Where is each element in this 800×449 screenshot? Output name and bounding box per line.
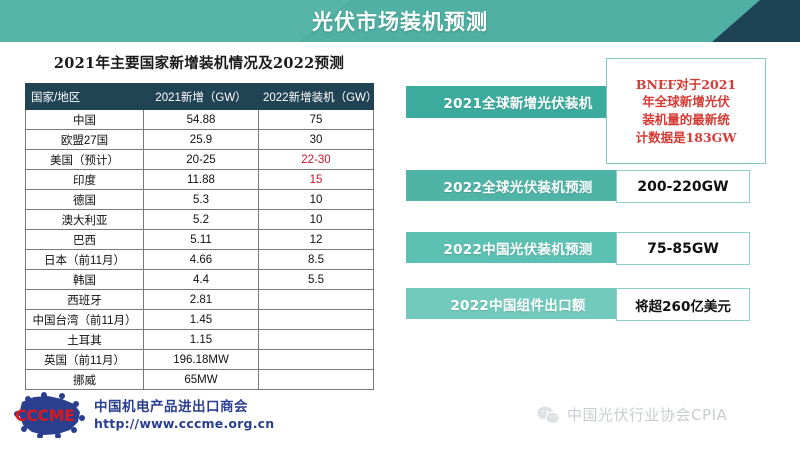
table-row: 英国（前11月）196.18MW: [26, 350, 374, 370]
cell-2021: 2.81: [144, 290, 259, 310]
cccme-gear-map-icon: CCCME: [14, 392, 88, 438]
callout-value-china-2022: 75-85GW: [616, 232, 750, 265]
cell-country: 日本（前11月）: [26, 250, 144, 270]
cell-2021: 4.66: [144, 250, 259, 270]
table-row: 澳大利亚5.210: [26, 210, 374, 230]
cell-country: 巴西: [26, 230, 144, 250]
value-text: 75-85GW: [647, 241, 719, 257]
cell-2021: 5.11: [144, 230, 259, 250]
table-caption: 2021年主要国家新增装机情况及2022预测: [25, 52, 373, 73]
cell-country: 英国（前11月）: [26, 350, 144, 370]
column-header-country: 国家/地区: [26, 84, 144, 110]
cell-2021: 196.18MW: [144, 350, 259, 370]
table-row: 韩国4.45.5: [26, 270, 374, 290]
table-row: 印度11.8815: [26, 170, 374, 190]
value-line: BNEF对于2021: [636, 76, 736, 94]
value-text: 将超260亿美元: [635, 295, 731, 315]
cell-country: 印度: [26, 170, 144, 190]
cell-2021: 1.45: [144, 310, 259, 330]
callout-china-2022: 2022中国光伏装机预测: [406, 232, 636, 263]
callout-global-2021: 2021全球新增光伏装机: [406, 86, 636, 118]
column-header-2022: 2022新增装机（GW）: [259, 84, 374, 110]
table-row: 中国54.8875: [26, 110, 374, 130]
table-row: 日本（前11月）4.668.5: [26, 250, 374, 270]
cell-2021: 11.88: [144, 170, 259, 190]
cell-country: 澳大利亚: [26, 210, 144, 230]
installation-table-panel: 2021年主要国家新增装机情况及2022预测 国家/地区 2021新增（GW） …: [25, 52, 373, 390]
cccme-name: 中国机电产品进出口商会: [94, 399, 274, 416]
callout-label-china-export-2022: 2022中国组件出口额: [406, 288, 636, 319]
cell-2022: 75: [259, 110, 374, 130]
wechat-icon: [536, 405, 560, 425]
cpia-label: 中国光伏行业协会CPIA: [567, 404, 727, 425]
cell-2021: 54.88: [144, 110, 259, 130]
table-header-row: 国家/地区 2021新增（GW） 2022新增装机（GW）: [26, 84, 374, 110]
cell-country: 中国: [26, 110, 144, 130]
cell-2021: 25.9: [144, 130, 259, 150]
table-row: 美国（预计）20-2522-30: [26, 150, 374, 170]
cell-2022: 5.5: [259, 270, 374, 290]
value-line: 年全球新增光伏: [642, 93, 730, 111]
cell-country: 欧盟27国: [26, 130, 144, 150]
cell-country: 德国: [26, 190, 144, 210]
callout-label-global-2021: 2021全球新增光伏装机: [406, 86, 636, 118]
cell-2022: [259, 370, 374, 390]
table-row: 挪威65MW: [26, 370, 374, 390]
callout-value-global-2021: BNEF对于2021 年全球新增光伏 装机量的最新统 计数据是183GW: [606, 58, 766, 164]
cell-2021: 1.15: [144, 330, 259, 350]
cell-2022: [259, 330, 374, 350]
cell-country: 韩国: [26, 270, 144, 290]
cell-2022: [259, 350, 374, 370]
cell-2021: 5.2: [144, 210, 259, 230]
cell-country: 美国（预计）: [26, 150, 144, 170]
table-row: 土耳其1.15: [26, 330, 374, 350]
callout-label-china-2022: 2022中国光伏装机预测: [406, 232, 636, 263]
cell-country: 西班牙: [26, 290, 144, 310]
table-row: 巴西5.1112: [26, 230, 374, 250]
cccme-text-block: 中国机电产品进出口商会 http://www.cccme.org.cn: [94, 399, 274, 432]
callout-value-global-2022: 200-220GW: [616, 170, 750, 203]
cell-2022: [259, 290, 374, 310]
cccme-url[interactable]: http://www.cccme.org.cn: [94, 416, 274, 432]
svg-text:CCCME: CCCME: [15, 406, 75, 425]
cpia-footer-block: 中国光伏行业协会CPIA: [536, 404, 727, 425]
cell-2022: 22-30: [259, 150, 374, 170]
callout-china-export-2022: 2022中国组件出口额: [406, 288, 636, 319]
callout-label-global-2022: 2022全球光伏装机预测: [406, 170, 636, 201]
cell-2021: 65MW: [144, 370, 259, 390]
table-row: 德国5.310: [26, 190, 374, 210]
page-title: 光伏市场装机预测: [0, 0, 800, 42]
cell-2022: 12: [259, 230, 374, 250]
cell-country: 中国台湾（前11月）: [26, 310, 144, 330]
cell-2022: [259, 310, 374, 330]
column-header-2021: 2021新增（GW）: [144, 84, 259, 110]
table-body: 中国54.8875 欧盟27国25.930 美国（预计）20-2522-30 印…: [26, 110, 374, 390]
cell-country: 土耳其: [26, 330, 144, 350]
cell-2021: 4.4: [144, 270, 259, 290]
cell-2021: 20-25: [144, 150, 259, 170]
table-row: 西班牙2.81: [26, 290, 374, 310]
cell-country: 挪威: [26, 370, 144, 390]
cell-2022: 30: [259, 130, 374, 150]
cell-2022: 8.5: [259, 250, 374, 270]
cccme-logo-icon: CCCME: [14, 392, 88, 438]
cell-2022: 10: [259, 190, 374, 210]
cell-2022: 15: [259, 170, 374, 190]
table-row: 中国台湾（前11月）1.45: [26, 310, 374, 330]
value-line: 计数据是183GW: [636, 129, 737, 147]
callout-value-china-export-2022: 将超260亿美元: [616, 288, 750, 321]
cell-2022: 10: [259, 210, 374, 230]
cccme-logo-block: CCCME 中国机电产品进出口商会 http://www.cccme.org.c…: [14, 392, 274, 438]
installation-table: 国家/地区 2021新增（GW） 2022新增装机（GW） 中国54.8875 …: [25, 83, 374, 390]
callout-global-2022: 2022全球光伏装机预测: [406, 170, 636, 201]
slide-root: 光伏市场装机预测 2021年主要国家新增装机情况及2022预测 国家/地区 20…: [0, 0, 800, 449]
value-line: 装机量的最新统: [642, 111, 730, 129]
cell-2021: 5.3: [144, 190, 259, 210]
value-text: 200-220GW: [637, 179, 728, 195]
slide-header: 光伏市场装机预测: [0, 0, 800, 42]
table-row: 欧盟27国25.930: [26, 130, 374, 150]
